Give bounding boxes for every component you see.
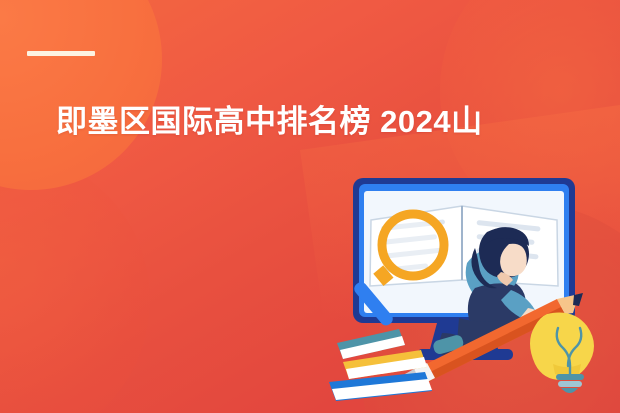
accent-rule (27, 51, 95, 56)
lightbulb (530, 313, 594, 394)
page-title: 即墨区国际高中排名榜 2024山 (56, 102, 616, 142)
background-blob-soft (0, 150, 150, 413)
study-research-illustration (325, 168, 620, 413)
banner-canvas: 即墨区国际高中排名榜 2024山 (0, 0, 620, 413)
background-blob-main (0, 0, 162, 190)
book-stack (329, 329, 432, 401)
